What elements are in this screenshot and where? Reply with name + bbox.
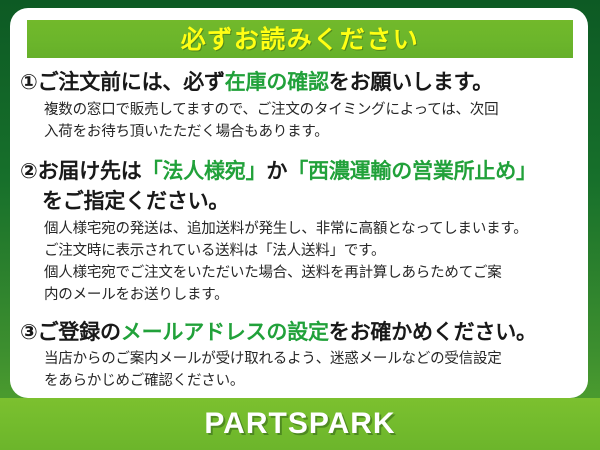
notice-item-1-body-line-1: 複数の窓口で販売してますので、ご注文のタイミングによっては、次回 <box>44 99 580 121</box>
notice-item-1-heading: ①ご注文前には、必ず在庫の確認をお願いします。 <box>20 68 580 98</box>
footer-bar: PARTSPARK <box>0 398 600 450</box>
notice-item-3-number: ③ <box>20 320 38 344</box>
notice-item-3-heading: ③ご登録のメールアドレスの設定をお確かめください。 <box>20 318 580 348</box>
notice-item-2: ②お届け先は「法人様宛」か「西濃運輸の営業所止め」 をご指定ください。 個人様宅… <box>20 157 580 306</box>
notice-item-1-number: ① <box>20 70 38 94</box>
notice-item-1-body-line-2: 入荷をお待ち頂いたただく場合もあります。 <box>44 121 580 143</box>
notice-item-1-heading-part-1: ご注文前には、必ず <box>38 70 225 94</box>
notice-item-3-body-line-1: 当店からのご案内メールが受け取れるよう、迷惑メールなどの受信設定 <box>44 348 580 370</box>
notice-item-2-heading: ②お届け先は「法人様宛」か「西濃運輸の営業所止め」 <box>20 157 580 187</box>
notice-item-2-body-line-1: 個人様宅宛の発送は、追加送料が発生し、非常に高額となってしまいます。 <box>44 218 580 240</box>
notice-item-2-number: ② <box>20 159 38 183</box>
notice-item-2-heading-line-2: をご指定ください。 <box>20 187 580 217</box>
notice-item-3-heading-part-1: ご登録の <box>38 320 121 344</box>
notice-banner: 必ずお読みください ①ご注文前には、必ず在庫の確認をお願いします。 複数の窓口で… <box>0 0 600 450</box>
notice-item-2-body-line-3: 個人様宅宛でご注文をいただいた場合、送料を再計算しあらためてご案 <box>44 262 580 284</box>
notice-item-3-body-line-2: をあらかじめご確認ください。 <box>44 370 580 392</box>
brand-logo-text: PARTSPARK <box>204 407 395 441</box>
notice-item-2-heading-part-3: か <box>266 159 287 183</box>
banner-title: 必ずお読みください <box>181 27 420 52</box>
notice-item-1-heading-part-3: をお願いします。 <box>329 70 493 94</box>
title-bar: 必ずお読みください <box>27 20 573 58</box>
notice-list: ①ご注文前には、必ず在庫の確認をお願いします。 複数の窓口で販売してますので、ご… <box>10 66 588 395</box>
notice-item-3-heading-highlight: メールアドレスの設定 <box>121 320 329 344</box>
notice-item-2-heading-highlight-1: 「法人様宛」 <box>142 159 267 183</box>
notice-item-2-body-line-2: ご注文時に表示されている送料は「法人送料」です。 <box>44 240 580 262</box>
notice-item-2-body: 個人様宅宛の発送は、追加送料が発生し、非常に高額となってしまいます。 ご注文時に… <box>20 218 580 306</box>
white-panel: 必ずお読みください ①ご注文前には、必ず在庫の確認をお願いします。 複数の窓口で… <box>10 8 588 398</box>
notice-item-2-heading-part-1: お届け先は <box>38 159 142 183</box>
notice-item-1-heading-highlight: 在庫の確認 <box>225 70 329 94</box>
notice-item-3: ③ご登録のメールアドレスの設定をお確かめください。 当店からのご案内メールが受け… <box>20 318 580 393</box>
notice-item-1-body: 複数の窓口で販売してますので、ご注文のタイミングによっては、次回 入荷をお待ち頂… <box>20 99 580 143</box>
notice-item-2-body-line-4: 内のメールをお送りします。 <box>44 284 580 306</box>
notice-item-3-body: 当店からのご案内メールが受け取れるよう、迷惑メールなどの受信設定 をあらかじめご… <box>20 348 580 392</box>
notice-item-3-heading-part-3: をお確かめください。 <box>329 320 537 344</box>
notice-item-1: ①ご注文前には、必ず在庫の確認をお願いします。 複数の窓口で販売してますので、ご… <box>20 68 580 143</box>
notice-item-2-heading-highlight-2: 「西濃運輸の営業所止め」 <box>287 159 537 183</box>
